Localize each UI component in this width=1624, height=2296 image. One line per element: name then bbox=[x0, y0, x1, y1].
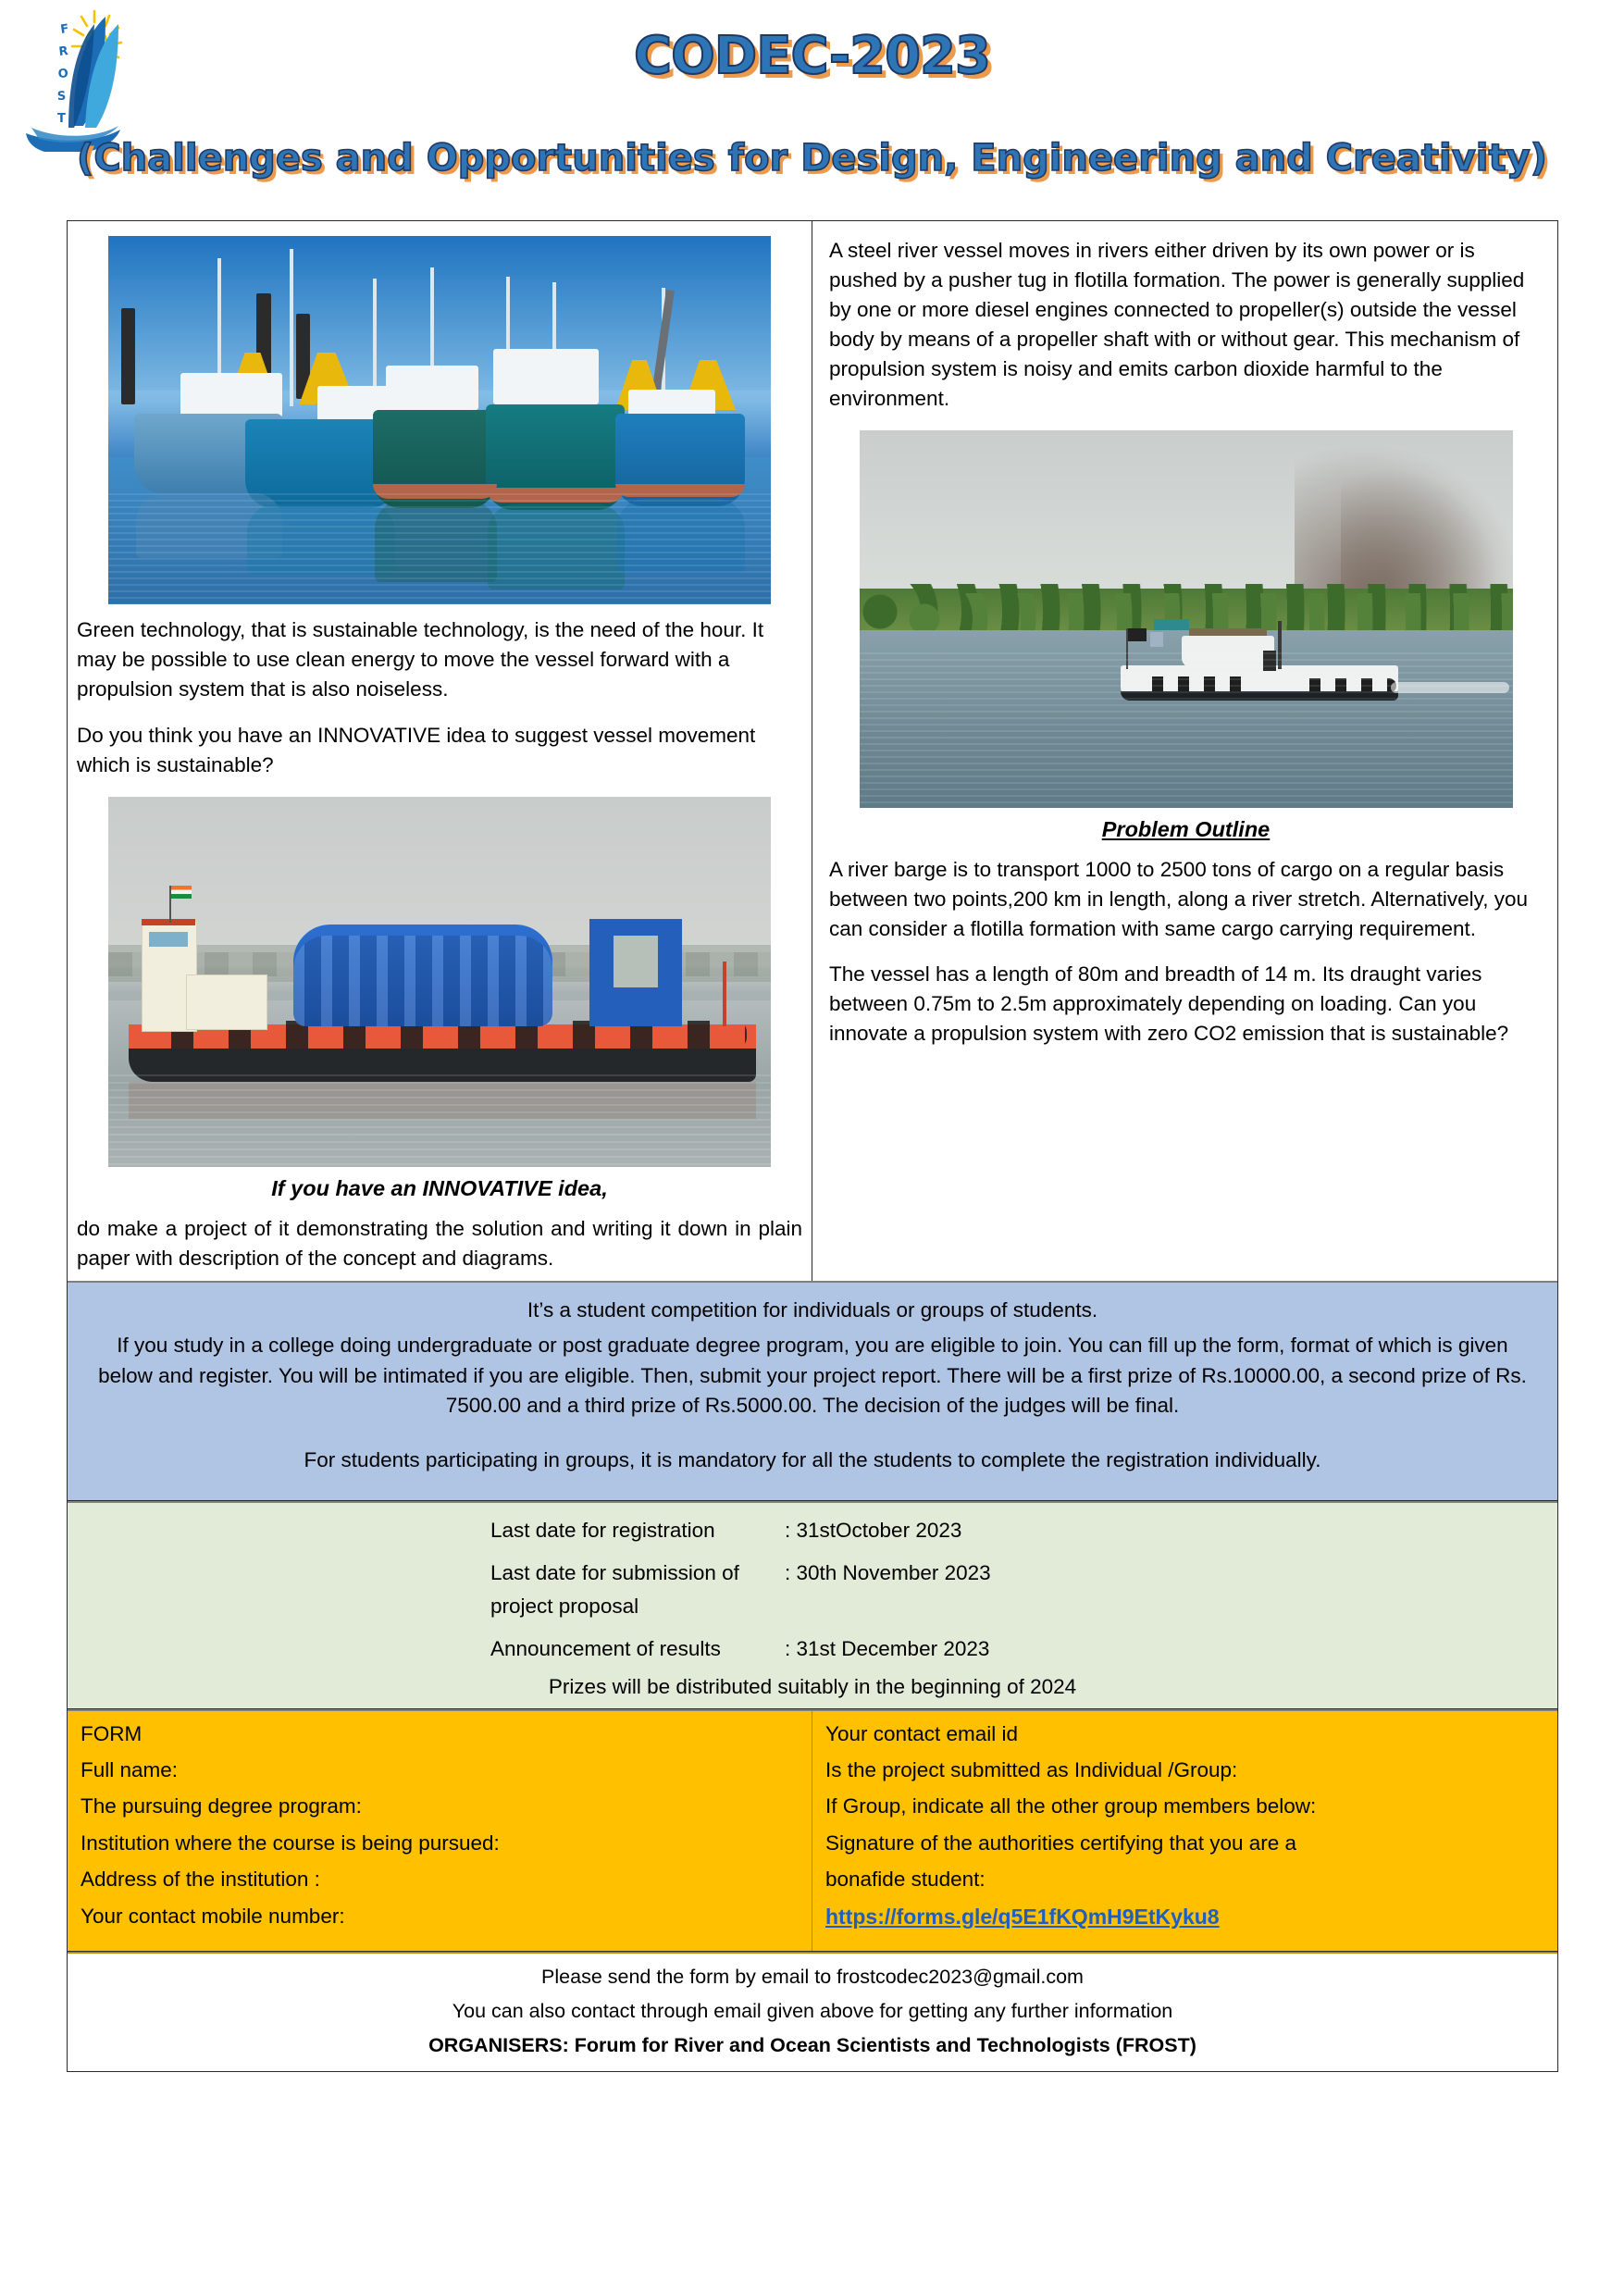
page-title: CODEC-2023 bbox=[0, 26, 1624, 86]
date-value: : 31stOctober 2023 bbox=[785, 1514, 1340, 1547]
footer-organisers: ORGANISERS: Forum for River and Ocean Sc… bbox=[68, 2031, 1557, 2060]
form-field-email-id[interactable]: Your contact email id bbox=[825, 1720, 1546, 1748]
eligibility-line-2: If you study in a college doing undergra… bbox=[92, 1331, 1533, 1421]
left-image-caption: If you have an INNOVATIVE idea, bbox=[77, 1176, 802, 1201]
dates-section: Last date for registration : 31stOctober… bbox=[68, 1501, 1557, 1709]
form-field-degree-program[interactable]: The pursuing degree program: bbox=[81, 1793, 800, 1820]
date-label: Last date for submission of project prop… bbox=[285, 1557, 785, 1623]
prize-distribution-note: Prizes will be distributed suitably in t… bbox=[68, 1675, 1557, 1699]
date-row: Last date for submission of project prop… bbox=[285, 1557, 1340, 1623]
page-header: F R O S T CODEC-2023 (Challenges and Opp… bbox=[0, 0, 1624, 205]
left-column: Green technology, that is sustainable te… bbox=[68, 221, 812, 1281]
date-value: : 30th November 2023 bbox=[785, 1557, 1340, 1623]
form-field-institution[interactable]: Institution where the course is being pu… bbox=[81, 1830, 800, 1857]
date-row: Last date for registration : 31stOctober… bbox=[285, 1514, 1340, 1547]
date-label: Last date for registration bbox=[285, 1514, 785, 1547]
google-form-link[interactable]: https://forms.gle/q5E1fKQmH9EtKyku8 bbox=[825, 1905, 1220, 1929]
svg-text:S: S bbox=[57, 90, 67, 104]
left-paragraph-2: Do you think you have an INNOVATIVE idea… bbox=[77, 721, 802, 780]
footer-section: Please send the form by email to frostco… bbox=[68, 1952, 1557, 2072]
form-field-full-name[interactable]: Full name: bbox=[81, 1756, 800, 1784]
page-subtitle: (Challenges and Opportunities for Design… bbox=[0, 137, 1624, 180]
river-barge-cargo-photo bbox=[108, 797, 771, 1167]
right-column: A steel river vessel moves in rivers eit… bbox=[812, 221, 1557, 1281]
right-paragraph-2: A river barge is to transport 1000 to 25… bbox=[829, 855, 1543, 944]
problem-outline-heading: Problem Outline bbox=[829, 817, 1543, 842]
moored-fishing-trawlers-photo bbox=[108, 236, 771, 604]
right-paragraph-3: The vessel has a length of 80m and bread… bbox=[829, 960, 1543, 1049]
form-field-group-members[interactable]: If Group, indicate all the other group m… bbox=[825, 1793, 1546, 1820]
eligibility-line-3: For students participating in groups, it… bbox=[92, 1446, 1533, 1476]
dates-table: Last date for registration : 31stOctober… bbox=[285, 1514, 1340, 1666]
registration-form-section: FORM Full name: The pursuing degree prog… bbox=[68, 1709, 1557, 1952]
eligibility-line-1: It’s a student competition for individua… bbox=[92, 1296, 1533, 1326]
right-paragraph-1: A steel river vessel moves in rivers eit… bbox=[829, 236, 1543, 414]
date-row: Announcement of results : 31st December … bbox=[285, 1632, 1340, 1666]
form-field-signature-line-1: Signature of the authorities certifying … bbox=[825, 1830, 1546, 1857]
two-column-region: Green technology, that is sustainable te… bbox=[68, 221, 1557, 1281]
form-field-signature-line-2[interactable]: bonafide student: bbox=[825, 1866, 1546, 1893]
form-left-column: FORM Full name: The pursuing degree prog… bbox=[68, 1711, 812, 1951]
pusher-tug-smoke-photo bbox=[860, 430, 1513, 808]
flyer-body: Green technology, that is sustainable te… bbox=[67, 220, 1558, 2072]
left-paragraph-1: Green technology, that is sustainable te… bbox=[77, 615, 802, 704]
form-field-individual-or-group[interactable]: Is the project submitted as Individual /… bbox=[825, 1756, 1546, 1784]
form-field-institution-address[interactable]: Address of the institution : bbox=[81, 1866, 800, 1893]
date-label: Announcement of results bbox=[285, 1632, 785, 1666]
svg-text:T: T bbox=[57, 112, 66, 126]
footer-line-2: You can also contact through email given… bbox=[68, 1997, 1557, 2026]
footer-line-1: Please send the form by email to frostco… bbox=[68, 1963, 1557, 1992]
eligibility-section: It’s a student competition for individua… bbox=[68, 1281, 1557, 1501]
date-value: : 31st December 2023 bbox=[785, 1632, 1340, 1666]
form-heading: FORM bbox=[81, 1720, 800, 1748]
left-paragraph-3: do make a project of it demonstrating th… bbox=[77, 1214, 802, 1273]
form-field-mobile-number[interactable]: Your contact mobile number: bbox=[81, 1903, 800, 1930]
form-right-column: Your contact email id Is the project sub… bbox=[812, 1711, 1557, 1951]
